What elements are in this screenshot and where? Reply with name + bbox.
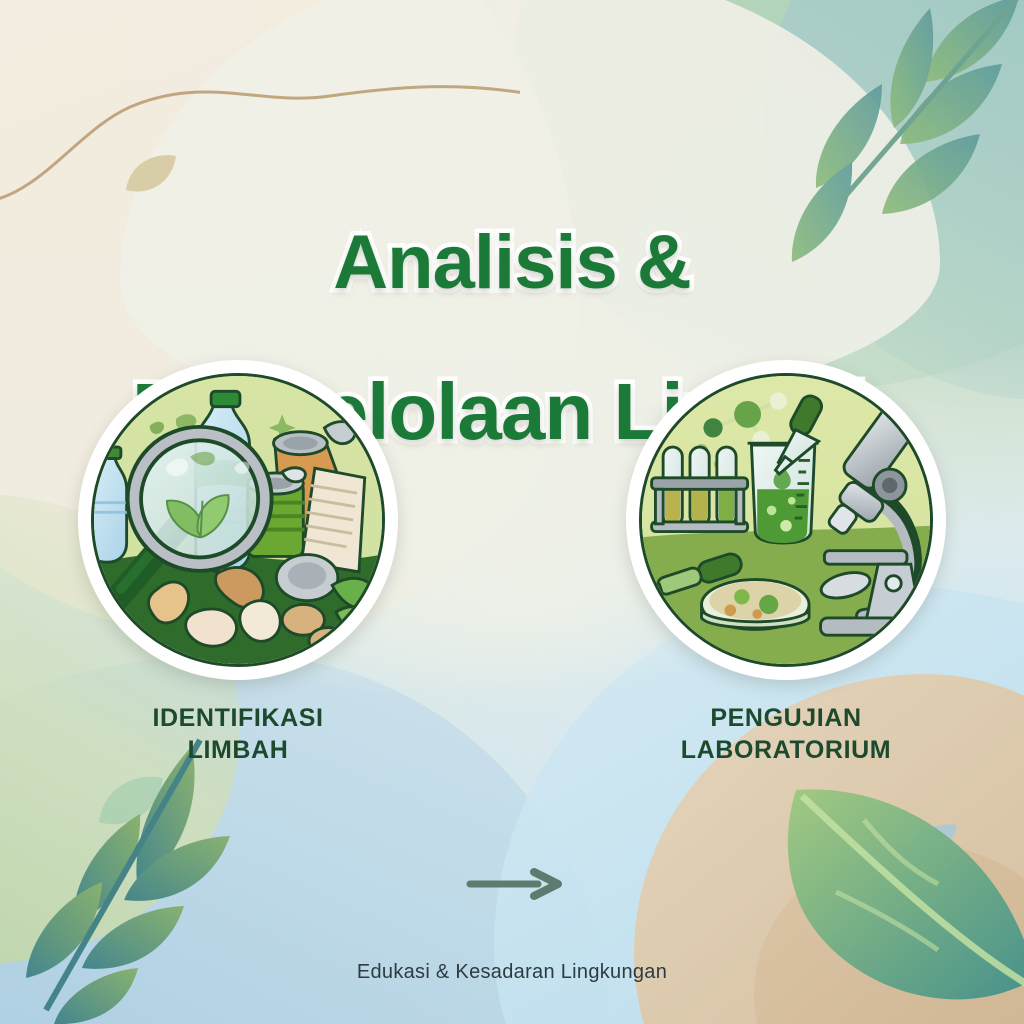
title-line-1: Analisis & [0, 226, 1024, 300]
poster-canvas: Analisis & Pengelolaan Limbah [0, 0, 1024, 1024]
right-arrow-icon [466, 868, 566, 900]
waste-identification-illustration [94, 376, 382, 664]
sticker-scene-2 [639, 373, 933, 667]
step-1-caption: IDENTIFIKASI LIMBAH [48, 702, 428, 766]
process-steps: IDENTIFIKASI LIMBAH [0, 360, 1024, 780]
step-2-sticker [626, 360, 946, 680]
sticker-scene-1 [91, 373, 385, 667]
laboratory-testing-illustration [642, 376, 930, 664]
step-identifikasi-limbah[interactable]: IDENTIFIKASI LIMBAH [48, 360, 428, 766]
step-pengujian-laboratorium[interactable]: PENGUJIAN LABORATORIUM [596, 360, 976, 766]
step-1-sticker [78, 360, 398, 680]
footer-caption: Edukasi & Kesadaran Lingkungan [0, 961, 1024, 984]
step-2-caption: PENGUJIAN LABORATORIUM [596, 702, 976, 766]
